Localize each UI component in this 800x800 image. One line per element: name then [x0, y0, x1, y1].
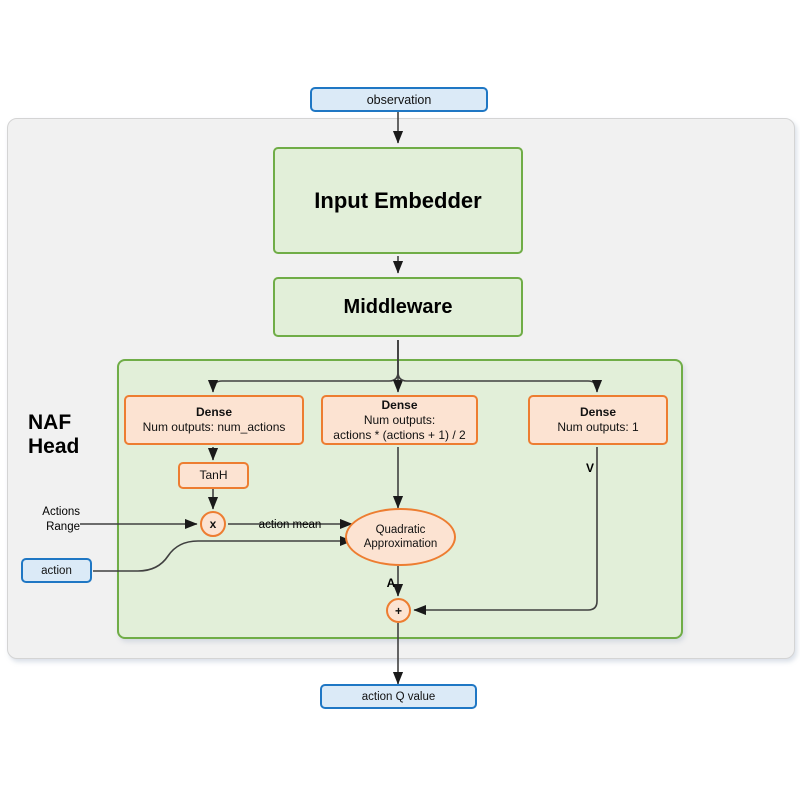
edge-label-advantage: A — [387, 576, 396, 590]
diagram-canvas: action mean A V observation Input Embedd… — [0, 0, 800, 800]
naf-head-title-line1: NAF — [28, 411, 110, 435]
actions-range-line1: Actions — [8, 505, 80, 520]
dense-mid-title: Dense — [381, 398, 417, 413]
dense-right-line2: Num outputs: 1 — [557, 420, 638, 435]
dense-left-line2: Num outputs: num_actions — [143, 420, 286, 435]
input-embedder-box[interactable]: Input Embedder — [273, 147, 523, 254]
add-symbol: + — [395, 604, 402, 618]
dense-mid-line2: Num outputs: — [364, 413, 435, 428]
edge-action-to-quadratic — [93, 541, 352, 571]
quadratic-line2: Approximation — [364, 537, 438, 551]
middleware-box[interactable]: Middleware — [273, 277, 523, 337]
input-embedder-label: Input Embedder — [314, 188, 481, 214]
observation-label: observation — [367, 93, 432, 107]
quadratic-approximation-node[interactable]: Quadratic Approximation — [345, 508, 456, 566]
actions-range-label: Actions Range — [8, 505, 80, 535]
action-q-value-label: action Q value — [362, 691, 436, 703]
quadratic-line1: Quadratic — [376, 523, 426, 537]
action-label: action — [41, 565, 72, 577]
edge-middleware-to-dense-left — [213, 340, 398, 392]
multiply-symbol: x — [210, 517, 217, 531]
edge-label-value: V — [586, 461, 594, 475]
action-q-value-box[interactable]: action Q value — [320, 684, 477, 709]
dense-left-box[interactable]: Dense Num outputs: num_actions — [124, 395, 304, 445]
tanh-label: TanH — [199, 468, 227, 483]
edge-label-action-mean: action mean — [259, 519, 322, 531]
observation-box[interactable]: observation — [310, 87, 488, 112]
dense-right-title: Dense — [580, 405, 616, 420]
dense-mid-box[interactable]: Dense Num outputs: actions * (actions + … — [321, 395, 478, 445]
middleware-label: Middleware — [344, 296, 453, 319]
dense-mid-line3: actions * (actions + 1) / 2 — [333, 428, 465, 443]
tanh-box[interactable]: TanH — [178, 462, 249, 489]
naf-head-title-line2: Head — [28, 435, 110, 459]
add-operator[interactable]: + — [386, 598, 411, 623]
naf-head-title: NAF Head — [28, 411, 110, 459]
dense-right-box[interactable]: Dense Num outputs: 1 — [528, 395, 668, 445]
dense-left-title: Dense — [196, 405, 232, 420]
actions-range-line2: Range — [8, 520, 80, 535]
action-box[interactable]: action — [21, 558, 92, 583]
multiply-operator[interactable]: x — [200, 511, 226, 537]
edge-middleware-to-dense-right — [398, 340, 597, 392]
